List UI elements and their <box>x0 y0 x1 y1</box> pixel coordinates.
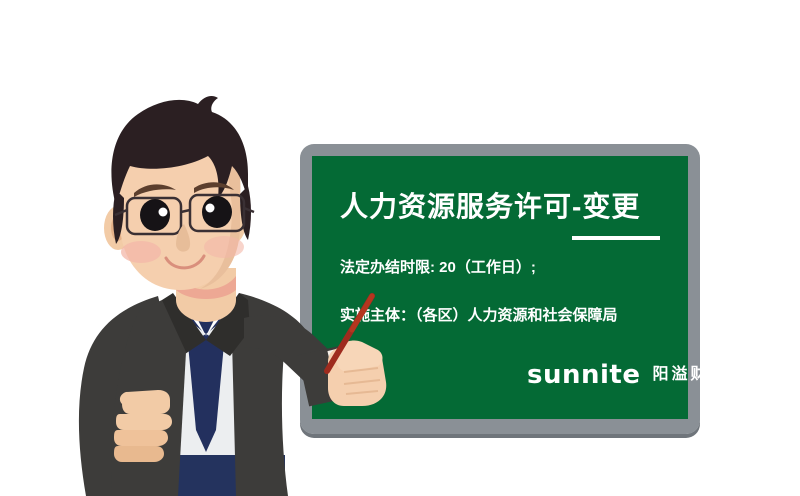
glasses-icon <box>115 195 254 234</box>
blush <box>121 236 244 263</box>
title-underline <box>572 236 660 240</box>
board-line-processing-time: 法定办结时限: 20（工作日）; <box>340 260 536 275</box>
left-fist <box>114 390 172 462</box>
eyebrows <box>134 182 234 197</box>
suit-jacket <box>79 293 330 496</box>
board-line-authority: 实施主体：（各区）人力资源和社会保障局 <box>340 308 618 323</box>
ears <box>104 200 246 250</box>
poster-canvas: 人力资源服务许可-变更 法定办结时限: 20（工作日）; 实施主体：（各区）人力… <box>0 0 800 496</box>
board-title: 人力资源服务许可-变更 <box>340 193 640 221</box>
shirt-group <box>148 315 285 496</box>
brand-logo-name-cn: 阳溢财税 <box>652 367 728 383</box>
hair <box>111 96 251 244</box>
face <box>120 110 240 290</box>
nose <box>176 224 190 252</box>
shirt-collar <box>173 286 239 336</box>
brand-logo: sunnite 阳溢财税 <box>527 362 729 388</box>
neck <box>176 268 236 322</box>
necktie <box>188 300 224 452</box>
eyes <box>140 196 232 231</box>
brand-logo-mark: sunnite <box>527 362 640 388</box>
mouth <box>166 256 204 268</box>
